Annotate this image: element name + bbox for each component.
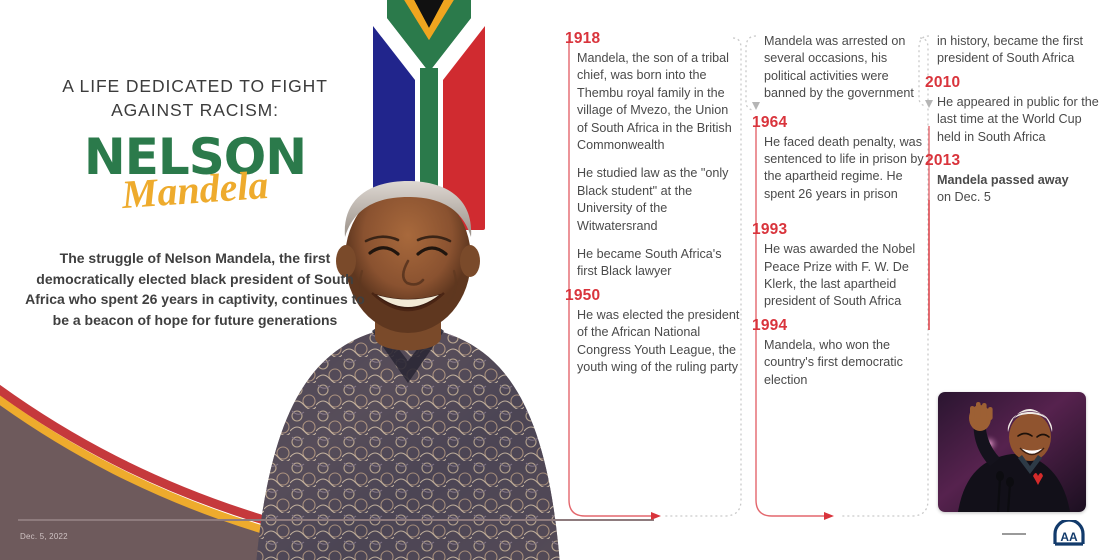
timeline-paragraph: He was elected the president of the Afri… xyxy=(577,307,741,377)
timeline-column-1: 1918 Mandela, the son of a tribal chief,… xyxy=(565,30,741,530)
timeline-paragraph: He faced death penalty, was sentenced to… xyxy=(764,134,928,204)
lede-paragraph: The struggle of Nelson Mandela, the firs… xyxy=(22,248,368,330)
timeline-paragraph: He was awarded the Nobel Peace Prize wit… xyxy=(764,241,928,311)
timeline-paragraph: Mandela was arrested on several occasion… xyxy=(764,33,928,103)
svg-text:AA: AA xyxy=(1060,530,1078,544)
timeline-paragraph: He studied law as the "only Black studen… xyxy=(577,165,741,235)
footer-divider xyxy=(18,519,654,521)
timeline-paragraph-death: Mandela passed away on Dec. 5 xyxy=(937,172,1101,207)
page-title: A LIFE DEDICATED TO FIGHT AGAINST RACISM… xyxy=(20,74,370,122)
infographic-canvas: Dec. 5, 2022 A LIFE DEDICATED TO FIGHT xyxy=(0,0,1120,560)
timeline-year: 1994 xyxy=(752,317,928,334)
eyebrow-line-1: A LIFE DEDICATED TO FIGHT xyxy=(20,74,370,98)
inset-photo-mandela-waving xyxy=(938,392,1086,512)
timeline-column-2-content: Mandela was arrested on several occasion… xyxy=(764,30,928,400)
aa-logo: AA xyxy=(1052,520,1086,546)
death-headline: Mandela passed away xyxy=(937,173,1069,187)
timeline-year: 2010 xyxy=(925,74,1101,91)
timeline-year: 1918 xyxy=(565,30,741,47)
date-stamp: Dec. 5, 2022 xyxy=(20,532,68,541)
timeline-column-2: Mandela was arrested on several occasion… xyxy=(752,30,928,530)
timeline-column-1-content: 1918 Mandela, the son of a tribal chief,… xyxy=(577,30,741,388)
timeline-paragraph: He became South Africa's first Black law… xyxy=(577,246,741,281)
nelson-mandela-wordmark: NELSON Mandela xyxy=(20,128,370,224)
timeline-column-3-content: in history, became the first president o… xyxy=(937,30,1101,218)
timeline-year: 2013 xyxy=(925,152,1101,169)
timeline-year: 1964 xyxy=(752,114,928,131)
death-date: on Dec. 5 xyxy=(937,190,991,204)
timeline-paragraph: Mandela, the son of a tribal chief, was … xyxy=(577,50,741,154)
logo-divider xyxy=(1002,533,1026,535)
timeline-paragraph: in history, became the first president o… xyxy=(937,33,1101,68)
timeline-paragraph: Mandela, who won the country's first dem… xyxy=(764,337,928,389)
nelson-mandela-portrait xyxy=(212,175,604,560)
timeline-year: 1993 xyxy=(752,221,928,238)
timeline-paragraph: He appeared in public for the last time … xyxy=(937,94,1101,146)
timeline-year: 1950 xyxy=(565,287,741,304)
eyebrow-line-2: AGAINST RACISM: xyxy=(20,98,370,122)
